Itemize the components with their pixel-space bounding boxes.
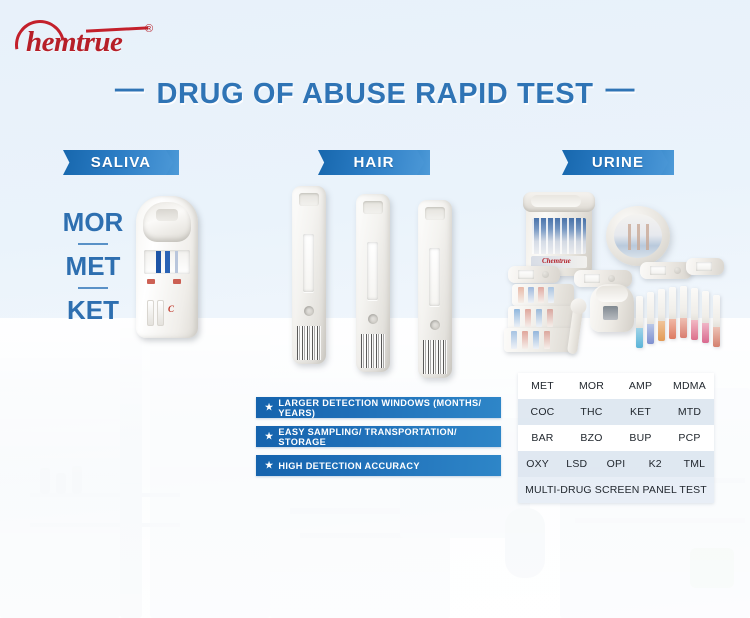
analyte-ket: KET [52, 294, 134, 326]
panel-cell: MET [518, 380, 567, 392]
panel-cell: OXY [518, 458, 557, 470]
saliva-test-cassette: C [136, 196, 198, 338]
cassette-well [542, 271, 549, 278]
cassette-sample-well [430, 320, 440, 330]
section-banner-urine-label: URINE [592, 154, 644, 171]
star-icon: ★ [265, 402, 273, 413]
panel-cell: TML [675, 458, 714, 470]
section-banner-hair-label: HAIR [353, 154, 394, 171]
cassette-result-window [144, 250, 190, 274]
multi-drug-panel-table: MET MOR AMP MDMA COC THC KET MTD BAR BZO… [518, 373, 714, 503]
title-text: DRUG OF ABUSE RAPID TEST [156, 78, 593, 110]
cassette-top-notch [425, 207, 445, 220]
cassette-window [518, 270, 534, 279]
barcode-label [361, 334, 385, 368]
cassette-marking [173, 279, 181, 284]
dip-strip [669, 287, 676, 339]
page-title: —DRUG OF ABUSE RAPID TEST— [0, 78, 750, 111]
hair-test-cassette [356, 194, 390, 372]
panel-strip [547, 309, 553, 327]
panel-cell: COC [518, 406, 567, 418]
panel-cell: BZO [567, 432, 616, 444]
analyte-divider [78, 243, 108, 245]
panel-cell: MDMA [665, 380, 714, 392]
dip-strip [647, 292, 654, 344]
hair-test-cassette [418, 200, 452, 378]
panel-cell: BAR [518, 432, 567, 444]
product-banner: hemtrue ® —DRUG OF ABUSE RAPID TEST— SAL… [0, 0, 750, 618]
panel-strip [538, 287, 544, 303]
panel-strip [548, 287, 554, 303]
strip-tip [713, 327, 720, 347]
dip-strip [702, 291, 709, 343]
test-line [165, 251, 170, 273]
trademark-symbol: ® [145, 23, 153, 35]
star-icon: ★ [265, 431, 273, 442]
urine-product-group: Chemtrue [508, 192, 724, 352]
cassette-marking [147, 279, 155, 284]
cup-strip [628, 224, 631, 250]
panel-strip [522, 331, 528, 349]
feature-bar-high-accuracy: ★ HIGH DETECTION ACCURACY [256, 455, 501, 476]
panel-strip [544, 331, 550, 349]
panel-cell: AMP [616, 380, 665, 392]
section-banner-urine: URINE [562, 150, 674, 175]
panel-strip [511, 331, 517, 349]
section-banner-saliva: SALIVA [63, 150, 179, 175]
feature-bar-detection-windows: ★ LARGER DETECTION WINDOWS (MONTHS/ YEAR… [256, 397, 501, 418]
panel-cell: OPI [596, 458, 635, 470]
cassette-brand-mark: C [168, 304, 174, 314]
test-cassette [686, 258, 724, 275]
multi-panel-card [504, 328, 574, 352]
swab-head [569, 297, 587, 315]
cup-strip [646, 224, 649, 250]
dip-strip [713, 295, 720, 347]
urine-test-cup: Chemtrue [526, 194, 592, 276]
dip-strip [658, 289, 665, 341]
analyte-mor: MOR [52, 206, 134, 238]
cassette-top-notch [363, 201, 383, 214]
barcode-label [423, 340, 447, 374]
cassette-window [696, 262, 712, 271]
test-cassette [508, 266, 560, 283]
multi-panel-card [512, 284, 574, 306]
cassette-result-window [303, 234, 314, 292]
saliva-collector [590, 284, 634, 332]
cassette-slot [147, 300, 154, 326]
dip-strip-group [636, 286, 722, 350]
cassette-collection-funnel [143, 202, 191, 242]
panel-strip [514, 309, 520, 327]
cassette-slot [157, 300, 164, 326]
dip-strip [691, 288, 698, 340]
feature-bar-label: LARGER DETECTION WINDOWS (MONTHS/ YEARS) [278, 398, 501, 418]
round-cup-inner [614, 214, 662, 258]
collector-top [596, 286, 628, 302]
feature-bar-label: EASY SAMPLING/ TRANSPORTATION/ STORAGE [278, 427, 501, 447]
cassette-top-notch [299, 193, 319, 206]
strip-tip [702, 323, 709, 343]
panel-cell: MTD [665, 406, 714, 418]
hair-test-devices [286, 186, 476, 378]
cassette-sample-well [368, 314, 378, 324]
cassette-window [650, 266, 666, 275]
panel-cell: PCP [665, 432, 714, 444]
multi-panel-card [508, 306, 574, 330]
cup-strip [637, 224, 640, 250]
funnel-inner [156, 209, 178, 221]
saliva-analyte-list: MOR MET KET [52, 206, 134, 326]
hair-test-cassette [292, 186, 326, 364]
table-row: COC THC KET MTD [518, 399, 714, 425]
cassette-sample-well [304, 306, 314, 316]
cassette-result-window [367, 242, 378, 300]
cassette-window [584, 274, 600, 283]
strip-tip [658, 321, 665, 341]
table-row: BAR BZO BUP PCP [518, 425, 714, 451]
strip-tip [669, 319, 676, 339]
strip-tip [680, 318, 687, 338]
test-line-faint [175, 251, 178, 273]
strip-tip [647, 324, 654, 344]
title-dash-right: — [606, 73, 636, 106]
title-dash-left: — [115, 73, 145, 106]
test-cassette [640, 262, 692, 279]
panel-strip [533, 331, 539, 349]
dip-strip [636, 296, 643, 348]
cup-lid-inner [531, 195, 581, 207]
analyte-met: MET [52, 250, 134, 282]
panel-cell: KET [616, 406, 665, 418]
cup-lid [523, 192, 595, 212]
section-banner-saliva-label: SALIVA [91, 154, 152, 171]
strip-tip [691, 320, 698, 340]
star-icon: ★ [265, 460, 273, 471]
panel-cell: BUP [616, 432, 665, 444]
panel-cell: LSD [557, 458, 596, 470]
panel-strip [528, 287, 534, 303]
cassette-result-window [429, 248, 440, 306]
panel-footer-label: MULTI-DRUG SCREEN PANEL TEST [518, 477, 714, 503]
panel-strip [525, 309, 531, 327]
test-line [156, 251, 161, 273]
logo-wordmark: hemtrue [26, 26, 122, 59]
strip-tip [636, 328, 643, 348]
table-row: MET MOR AMP MDMA [518, 373, 714, 399]
barcode-label [297, 326, 321, 360]
panel-cell: K2 [636, 458, 675, 470]
panel-cell: THC [567, 406, 616, 418]
cup-brand-mark: Chemtrue [542, 257, 571, 265]
panel-strip [536, 309, 542, 327]
round-urine-cup [606, 206, 670, 266]
cassette-well [674, 267, 681, 274]
feature-bar-label: HIGH DETECTION ACCURACY [278, 461, 419, 471]
brand-logo: hemtrue ® [12, 22, 162, 68]
feature-bar-easy-sampling: ★ EASY SAMPLING/ TRANSPORTATION/ STORAGE [256, 426, 501, 447]
table-row: OXY LSD OPI K2 TML [518, 451, 714, 477]
analyte-divider [78, 287, 108, 289]
panel-strip [518, 287, 524, 303]
collector-window [603, 306, 618, 320]
section-banner-hair: HAIR [318, 150, 430, 175]
dip-strip [680, 286, 687, 338]
cup-test-strips [532, 218, 586, 254]
panel-cell: MOR [567, 380, 616, 392]
cassette-well [608, 275, 615, 282]
